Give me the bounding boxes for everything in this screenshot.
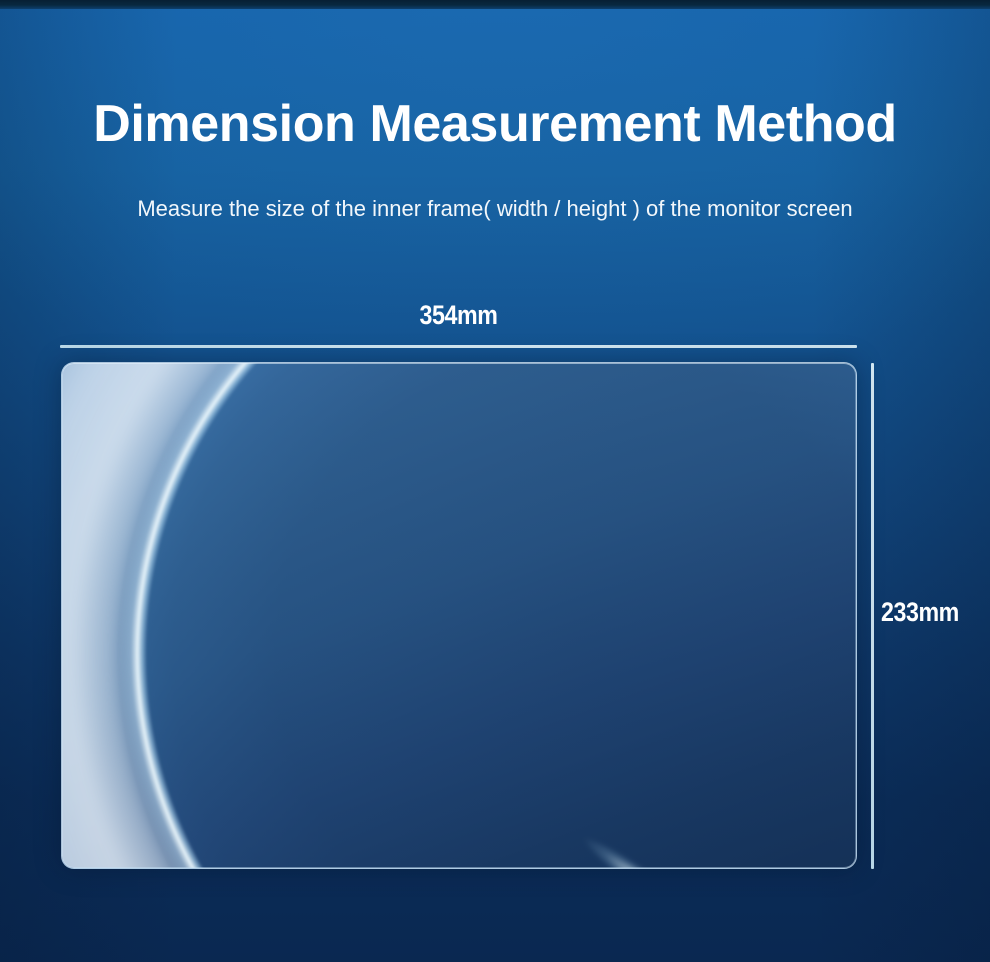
top-edge-band	[0, 0, 990, 9]
height-measurement-rule	[871, 363, 874, 869]
width-measurement-rule	[60, 345, 857, 348]
width-measurement-label: 354mm	[116, 300, 801, 331]
screen-gloss-arc-edge	[61, 362, 857, 869]
page-title: Dimension Measurement Method	[0, 96, 990, 153]
screen-inner-bezel-highlight	[62, 363, 856, 868]
page-subtitle: Measure the size of the inner frame( wid…	[0, 195, 990, 223]
screen-shadow-overlay	[61, 362, 857, 869]
screen-specular-glint	[526, 768, 784, 869]
screen-gloss-sweep	[61, 362, 857, 869]
height-measurement-label: 233mm	[881, 597, 959, 628]
monitor-screen-panel	[61, 362, 857, 869]
dimension-measurement-poster: Dimension Measurement Method Measure the…	[0, 0, 990, 962]
